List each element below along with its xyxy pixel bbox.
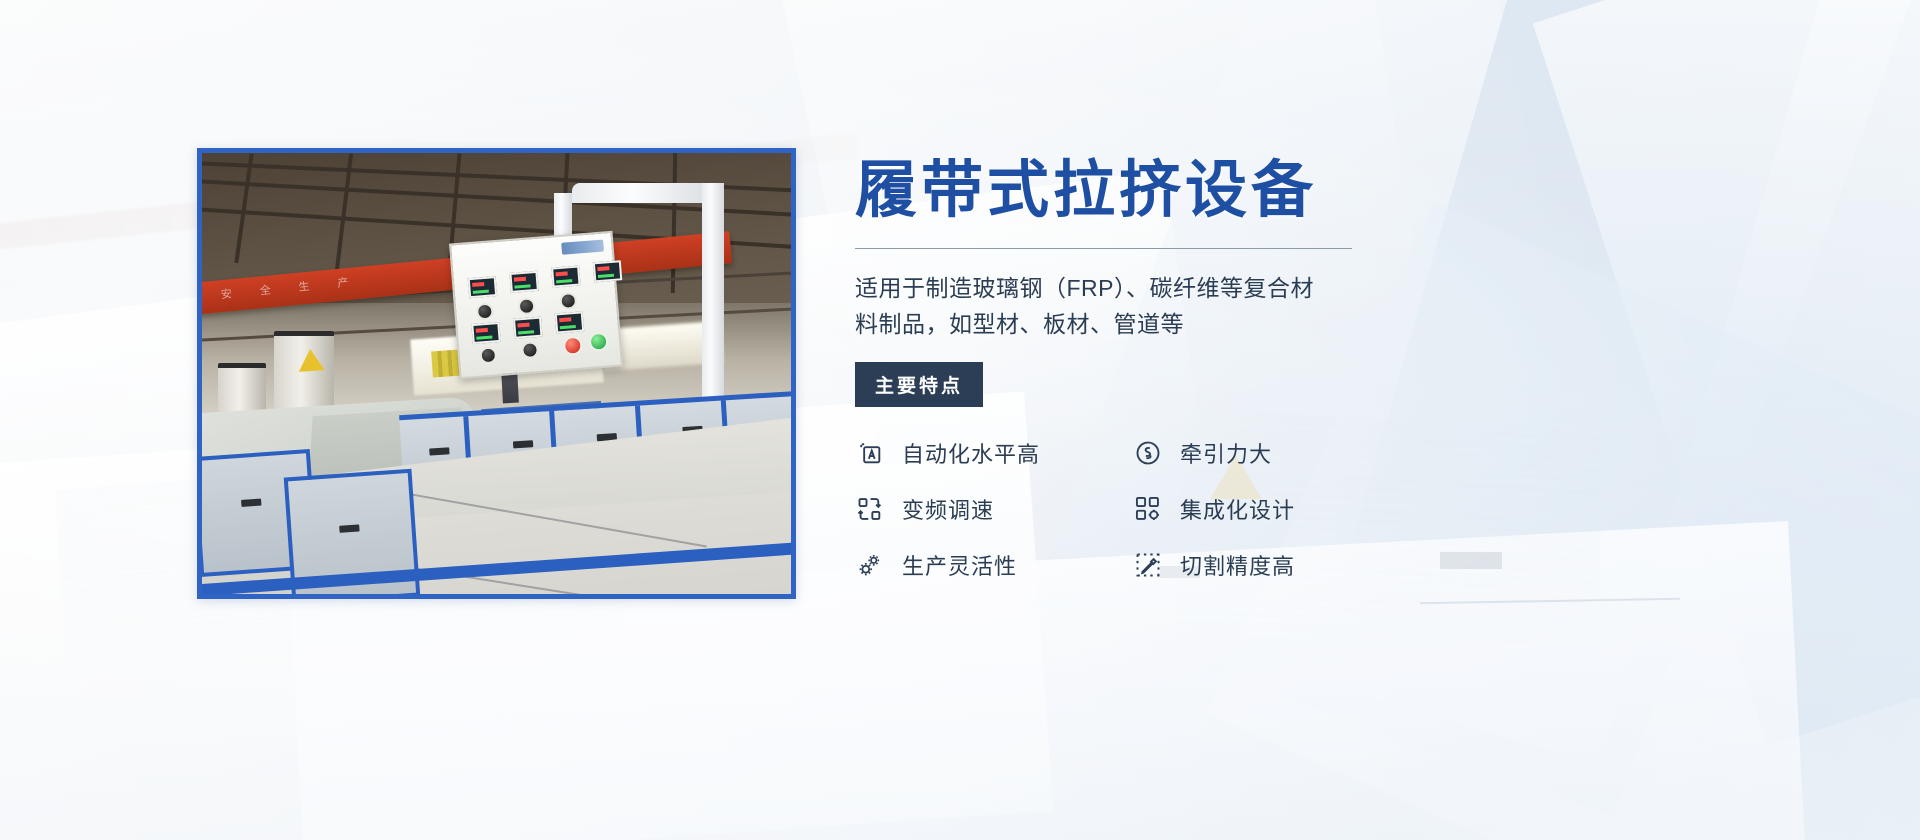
product-photo: 安全生产 bbox=[197, 148, 796, 599]
description-line-2: 料制品，如型材、板材、管道等 bbox=[855, 311, 1184, 337]
feature-list: 自动化水平高 牵引力大 bbox=[855, 437, 1415, 581]
feature-item-cutting-precision: 切割精度高 bbox=[1133, 549, 1411, 581]
traction-circle-waves-icon bbox=[1133, 438, 1163, 468]
feature-item-integration: 集成化设计 bbox=[1133, 493, 1411, 525]
gears-icon bbox=[855, 550, 885, 580]
precision-cut-pen-icon bbox=[1133, 550, 1163, 580]
feature-label: 自动化水平高 bbox=[902, 437, 1040, 469]
feature-label: 变频调速 bbox=[902, 493, 994, 525]
frequency-swap-icon bbox=[855, 494, 885, 524]
machine-warning-label-icon bbox=[297, 348, 324, 372]
page-title: 履带式拉挤设备 bbox=[855, 160, 1375, 222]
feature-label: 牵引力大 bbox=[1180, 437, 1272, 469]
feature-label: 生产灵活性 bbox=[902, 549, 1017, 581]
feature-label: 切割精度高 bbox=[1180, 549, 1295, 581]
integration-nodes-icon bbox=[1133, 494, 1163, 524]
banner-content: 履带式拉挤设备 适用于制造玻璃钢（FRP）、碳纤维等复合材 料制品，如型材、板材… bbox=[855, 160, 1375, 581]
product-description: 适用于制造玻璃钢（FRP）、碳纤维等复合材 料制品，如型材、板材、管道等 bbox=[855, 271, 1355, 342]
feature-item-frequency: 变频调速 bbox=[855, 493, 1133, 525]
status-badge: 主要特点 bbox=[855, 362, 983, 407]
feature-label: 集成化设计 bbox=[1180, 493, 1295, 525]
feature-item-automation: 自动化水平高 bbox=[855, 437, 1133, 469]
description-line-1: 适用于制造玻璃钢（FRP）、碳纤维等复合材 bbox=[855, 275, 1314, 301]
automation-square-a-icon bbox=[855, 438, 885, 468]
feature-item-flexibility: 生产灵活性 bbox=[855, 549, 1133, 581]
feature-item-traction: 牵引力大 bbox=[1133, 437, 1411, 469]
title-divider bbox=[855, 248, 1352, 249]
product-banner: 安全生产 bbox=[0, 0, 1920, 840]
machine-control-panel bbox=[449, 231, 623, 379]
